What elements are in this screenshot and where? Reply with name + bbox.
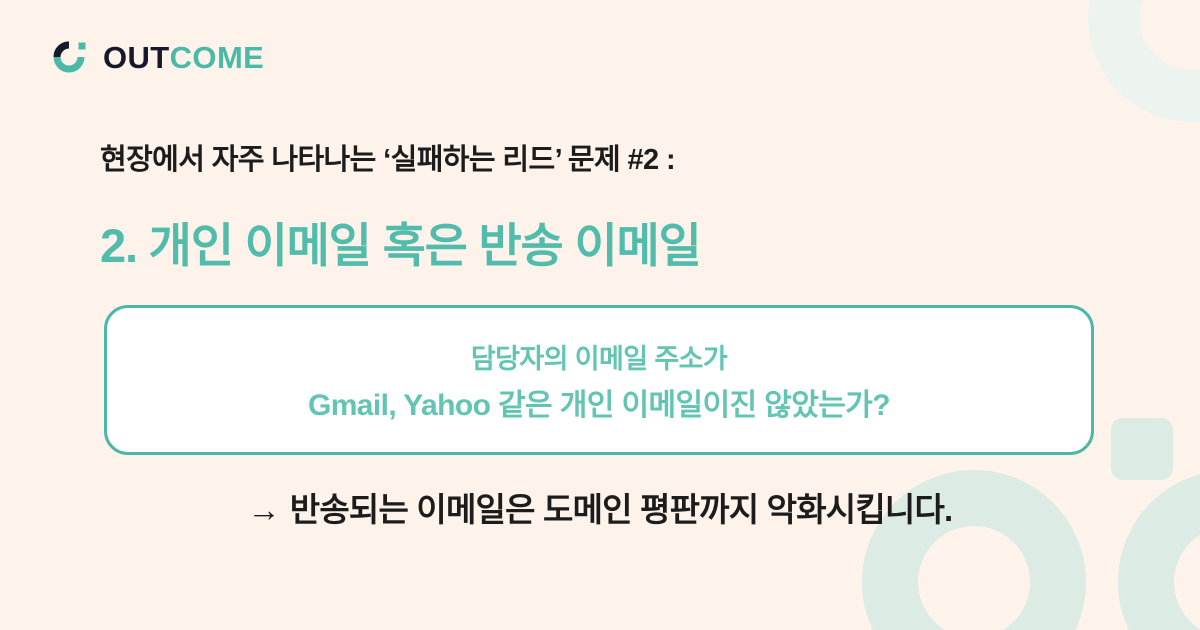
brand-wordmark: OUTCOME (103, 42, 264, 73)
arrow-right-icon: → (248, 491, 280, 528)
conclusion-line: →반송되는 이메일은 도메인 평판까지 악화시킵니다. (0, 483, 1200, 531)
outcome-ring-mark-icon (48, 36, 90, 78)
brand-wordmark-come: COME (170, 40, 265, 75)
question-card: 담당자의 이메일 주소가 Gmail, Yahoo 같은 개인 이메일이진 않았… (104, 305, 1094, 455)
brand-wordmark-out: OUT (103, 40, 170, 75)
conclusion-text: 반송되는 이메일은 도메인 평판까지 악화시킵니다. (290, 491, 953, 528)
decorative-rounded-square (1111, 418, 1173, 480)
decorative-ring-top-right (1088, 0, 1200, 122)
page-title: 2. 개인 이메일 혹은 반송 이메일 (100, 207, 701, 276)
question-card-line-1: 담당자의 이메일 주소가 (471, 337, 727, 376)
brand-logo: OUTCOME (48, 36, 264, 78)
eyebrow-heading: 현장에서 자주 나타나는 ‘실패하는 리드’ 문제 #2 : (100, 136, 675, 178)
question-card-line-2: Gmail, Yahoo 같은 개인 이메일이진 않았는가? (308, 380, 890, 424)
